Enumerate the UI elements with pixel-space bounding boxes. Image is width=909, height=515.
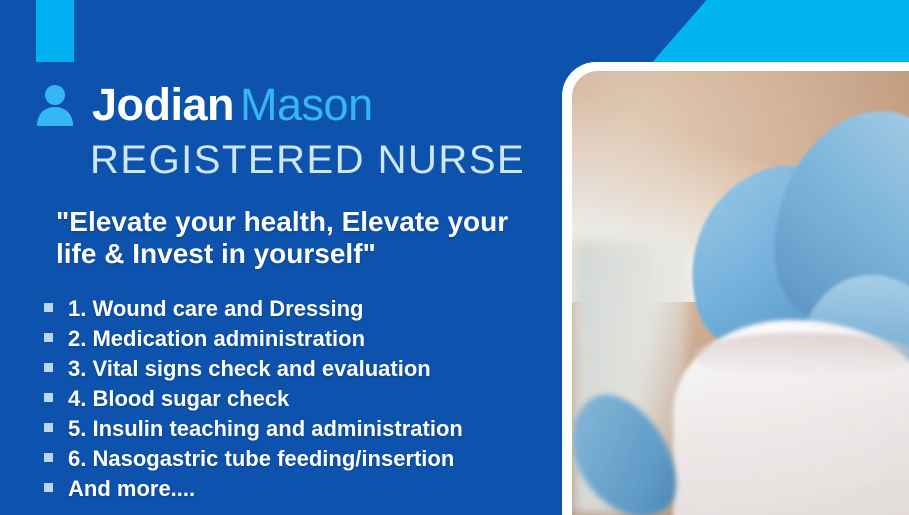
service-label: 2. Medication administration bbox=[68, 324, 365, 354]
service-label: 3. Vital signs check and evaluation bbox=[68, 354, 431, 384]
bullet-square-icon bbox=[44, 303, 53, 312]
photo-frame bbox=[562, 62, 909, 515]
first-name: Jodian bbox=[92, 79, 234, 130]
service-label: 5. Insulin teaching and administration bbox=[68, 414, 463, 444]
list-item: And more.... bbox=[44, 474, 463, 504]
service-label: 1. Wound care and Dressing bbox=[68, 294, 363, 324]
list-item: 2. Medication administration bbox=[44, 324, 463, 354]
nursing-photo bbox=[572, 71, 909, 515]
list-item: 4. Blood sugar check bbox=[44, 384, 463, 414]
list-item: 3. Vital signs check and evaluation bbox=[44, 354, 463, 384]
profession-title: REGISTERED NURSE bbox=[90, 140, 525, 180]
bullet-square-icon bbox=[44, 393, 53, 402]
list-item: 5. Insulin teaching and administration bbox=[44, 414, 463, 444]
nurse-service-poster: JodianMason REGISTERED NURSE "Elevate yo… bbox=[0, 0, 909, 515]
service-label: 4. Blood sugar check bbox=[68, 384, 289, 414]
service-label: And more.... bbox=[68, 474, 195, 504]
service-label: 6. Nasogastric tube feeding/insertion bbox=[68, 444, 454, 474]
bullet-square-icon bbox=[44, 333, 53, 342]
tagline-quote: "Elevate your health, Elevate your life … bbox=[56, 206, 556, 271]
bullet-square-icon bbox=[44, 423, 53, 432]
person-icon bbox=[34, 82, 76, 126]
bullet-square-icon bbox=[44, 483, 53, 492]
last-name: Mason bbox=[240, 79, 373, 130]
list-item: 1. Wound care and Dressing bbox=[44, 294, 463, 324]
name-row: JodianMason bbox=[34, 74, 373, 134]
bullet-square-icon bbox=[44, 453, 53, 462]
photo-vignette bbox=[572, 71, 909, 515]
full-name: JodianMason bbox=[92, 82, 373, 127]
info-panel: JodianMason REGISTERED NURSE "Elevate yo… bbox=[0, 0, 566, 515]
services-list: 1. Wound care and Dressing 2. Medication… bbox=[44, 294, 463, 504]
bullet-square-icon bbox=[44, 363, 53, 372]
list-item: 6. Nasogastric tube feeding/insertion bbox=[44, 444, 463, 474]
